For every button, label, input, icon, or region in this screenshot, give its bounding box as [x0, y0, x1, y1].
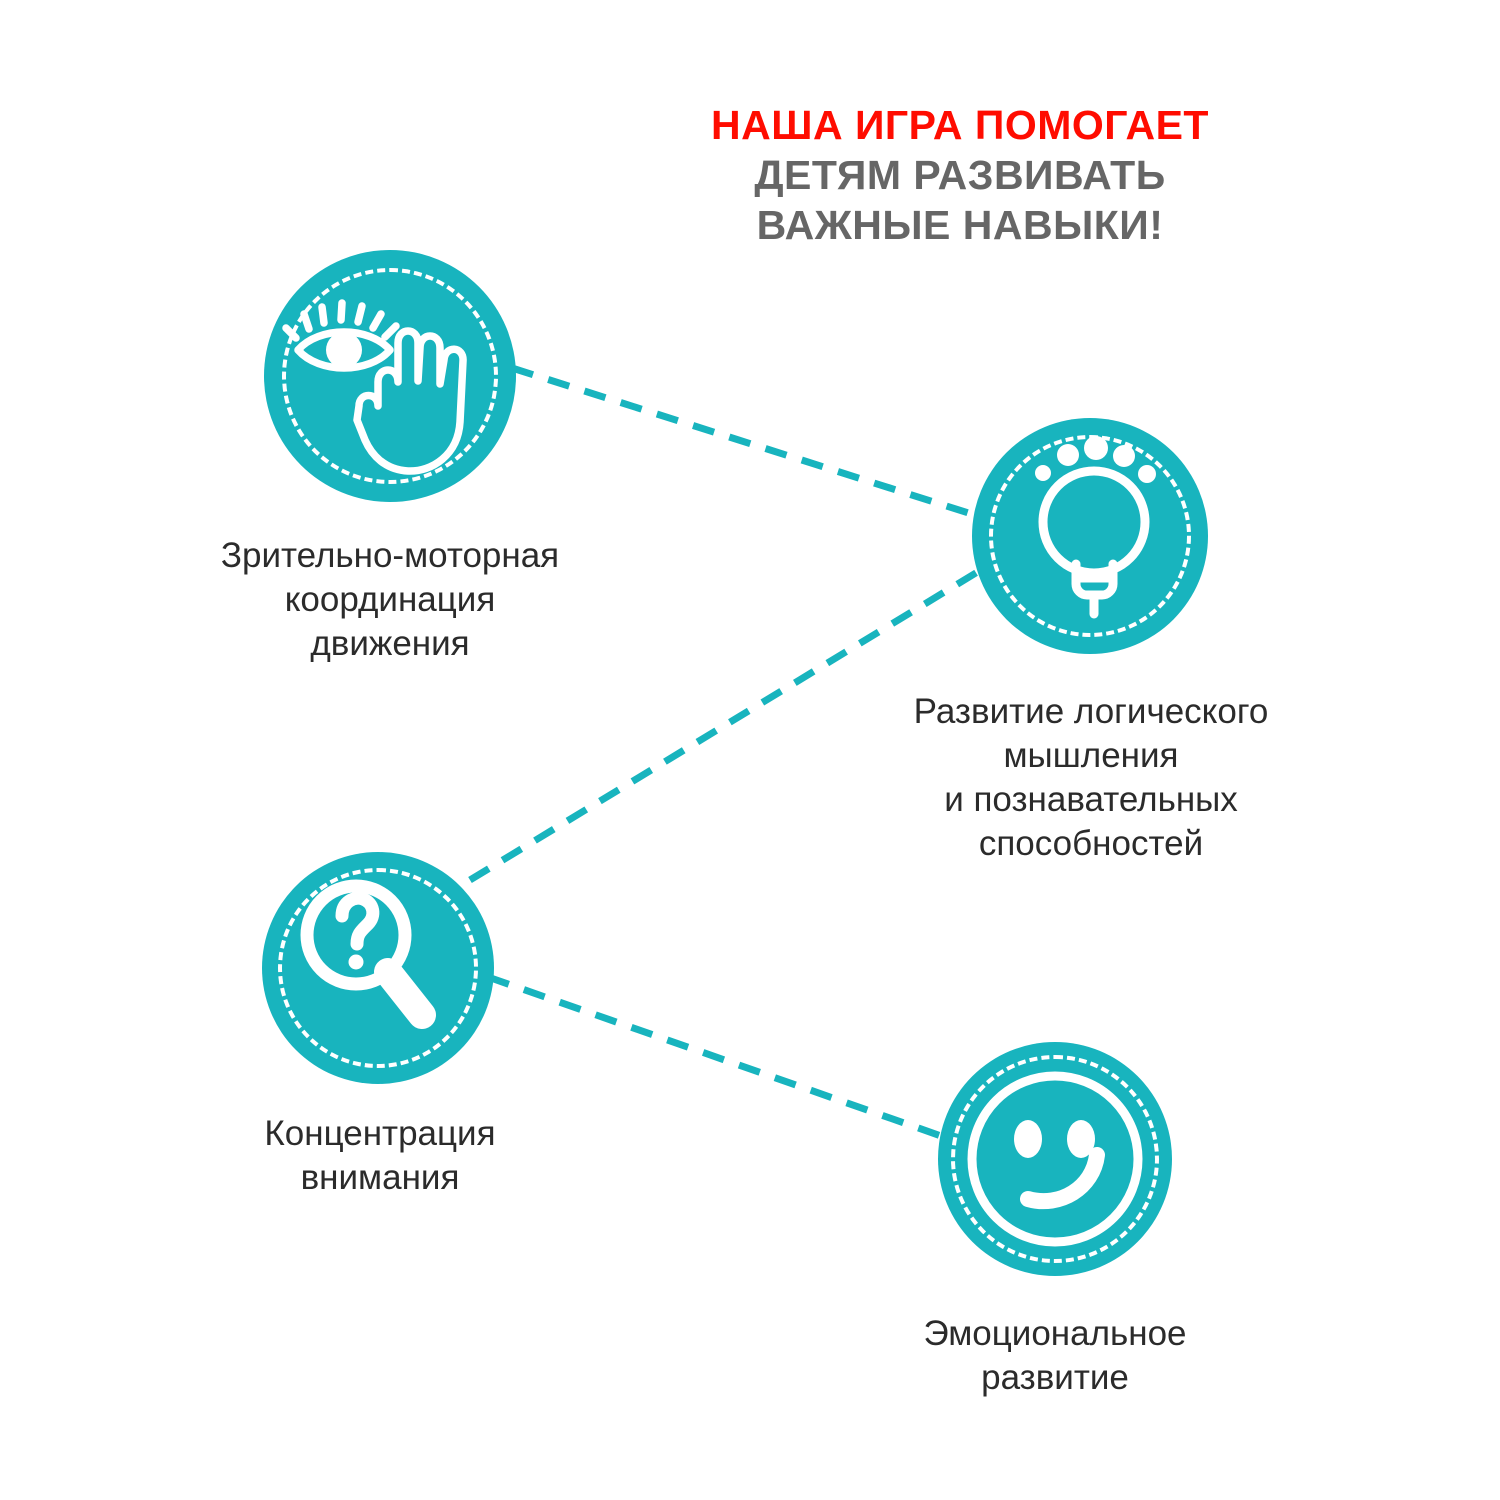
node-attention-circle[interactable] [262, 852, 494, 1084]
ray-dot [1138, 465, 1156, 483]
node-attention[interactable] [262, 852, 494, 1084]
lightbulb-icon [972, 418, 1208, 654]
node-logic-caption: Развитие логического мышления и познават… [836, 690, 1346, 866]
node-coordination-circle[interactable] [264, 250, 516, 502]
connector-coordination-to-logic [512, 368, 978, 516]
node-emotional-circle[interactable] [938, 1042, 1172, 1276]
node-coordination-caption: Зрительно-моторная координация движения [120, 534, 660, 666]
smiley-face-icon [938, 1042, 1172, 1276]
ray-dot [1084, 436, 1108, 460]
eye-pupil [326, 332, 362, 368]
question-mark-glyph [342, 898, 373, 944]
question-mark-dot [349, 955, 364, 970]
node-attention-caption: Концентрация внимания [140, 1112, 620, 1200]
page-title: НАША ИГРА ПОМОГАЕТ ДЕТЯМ РАЗВИВАТЬ ВАЖНЫ… [600, 100, 1320, 250]
node-logic[interactable] [972, 418, 1208, 654]
ray-dot [1035, 465, 1051, 481]
title-line-2: ДЕТЯМ РАЗВИВАТЬ [600, 150, 1320, 200]
node-logic-circle[interactable] [972, 418, 1208, 654]
node-emotional-caption: Эмоциональное развитие [830, 1312, 1280, 1400]
title-line-1: НАША ИГРА ПОМОГАЕТ [600, 100, 1320, 150]
node-coordination[interactable] [264, 250, 516, 502]
magnifier-question-icon [262, 852, 494, 1084]
title-line-3: ВАЖНЫЕ НАВЫКИ! [600, 200, 1320, 250]
node-emotional[interactable] [938, 1042, 1172, 1276]
infographic-canvas: НАША ИГРА ПОМОГАЕТ ДЕТЯМ РАЗВИВАТЬ ВАЖНЫ… [0, 0, 1500, 1500]
ray-dot [1113, 445, 1135, 467]
ray-dot [1057, 444, 1079, 466]
smiley-mouth [1028, 1155, 1097, 1201]
smiley-eye-left [1014, 1120, 1042, 1158]
eye-hand-icon [264, 250, 516, 502]
